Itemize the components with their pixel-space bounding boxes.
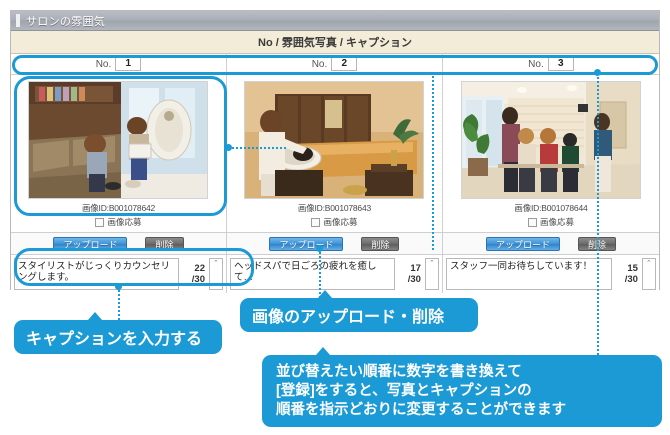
connector-knob-photo: [225, 144, 232, 151]
connector-caption-callout: [118, 286, 120, 320]
caption-row: スタイリストがじっくりカウンセリングします。 22/30 ⌃ ヘッドスパで日ごろ…: [11, 255, 659, 293]
photo-row: 画像ID:B001078642 画像応募: [11, 75, 659, 233]
apply-checkbox-3[interactable]: [528, 218, 537, 227]
caption-counter-1: 22/30: [181, 263, 207, 285]
order-number-input-3[interactable]: 3: [548, 57, 574, 71]
order-number-input-2[interactable]: 2: [331, 57, 357, 71]
connector-knob-caption: [115, 283, 122, 290]
callout-enter-caption: キャプションを入力する: [14, 320, 222, 354]
caption-max-2: /30: [408, 274, 421, 285]
order-number-cell-2: No. 2: [227, 54, 443, 75]
caption-scroll-2[interactable]: ⌃: [425, 258, 439, 290]
caption-count-1: 22: [194, 263, 205, 274]
caption-input-1[interactable]: スタイリストがじっくりカウンセリングします。: [14, 258, 179, 290]
caption-count-3: 15: [627, 263, 638, 274]
caption-scroll-1[interactable]: ⌃: [209, 258, 223, 290]
callout-upload-text: 画像のアップロード・削除: [252, 303, 444, 327]
callout-arrow-upload: [318, 290, 332, 298]
apply-checkbox-label-2: 画像応募: [323, 216, 357, 228]
salon-atmosphere-panel: サロンの雰囲気 No / 雰囲気写真 / キャプション No. 1 No. 2 …: [10, 10, 660, 290]
caption-max-1: /30: [192, 274, 205, 285]
action-button-cell-2: アップロード 削除: [227, 233, 443, 255]
image-id-prefix-1: 画像ID:: [82, 203, 109, 213]
delete-button-1[interactable]: 削除: [145, 237, 183, 251]
connector-knob-upload: [316, 245, 323, 252]
no-label-1: No.: [96, 59, 112, 70]
panel-titlebar: サロンの雰囲気: [11, 11, 659, 31]
photo-cell-3: 画像ID:B001078644 画像応募: [443, 75, 659, 233]
caption-counter-2: 17/30: [397, 263, 423, 285]
caption-max-3: /30: [625, 274, 638, 285]
caption-input-3[interactable]: スタッフ一同お待ちしています！: [446, 258, 612, 290]
upload-button-1[interactable]: アップロード: [53, 237, 127, 251]
apply-checkbox-row-3[interactable]: 画像応募: [528, 216, 574, 228]
callout-arrow-order: [316, 347, 330, 355]
caption-input-2[interactable]: ヘッドスパで日ごろの疲れを癒して…: [230, 258, 395, 290]
caption-counter-3: 15/30: [614, 263, 640, 285]
callout-order-text: 並び替えたい順番に数字を書き換えて [登録]をすると、写真とキャプションの 順番…: [276, 363, 566, 420]
apply-checkbox-label-3: 画像応募: [540, 216, 574, 228]
callout-arrow-caption: [88, 312, 102, 320]
order-number-cell-3: No. 3: [443, 54, 659, 75]
table-column-header: No / 雰囲気写真 / キャプション: [11, 31, 659, 54]
image-id-prefix-3: 画像ID:: [514, 203, 541, 213]
caption-count-2: 17: [410, 263, 421, 274]
action-button-row: アップロード 削除 アップロード 削除 アップロード 削除: [11, 233, 659, 255]
apply-checkbox-row-2[interactable]: 画像応募: [311, 216, 357, 228]
apply-checkbox-2[interactable]: [311, 218, 320, 227]
order-number-input-1[interactable]: 1: [115, 57, 141, 71]
callout-reorder-instructions: 並び替えたい順番に数字を書き換えて [登録]をすると、写真とキャプションの 順番…: [262, 355, 662, 427]
action-button-cell-1: アップロード 削除: [11, 233, 227, 255]
order-number-cell-1: No. 1: [11, 54, 227, 75]
image-id-2: 画像ID:B001078643: [298, 202, 371, 214]
upload-button-2[interactable]: アップロード: [269, 237, 343, 251]
delete-button-2[interactable]: 削除: [361, 237, 399, 251]
callout-caption-text: キャプションを入力する: [26, 325, 202, 349]
no-label-2: No.: [312, 59, 328, 70]
action-button-cell-3: アップロード 削除: [443, 233, 659, 255]
connector-photo-to-cell2: [228, 147, 286, 149]
image-id-prefix-2: 画像ID:: [298, 203, 325, 213]
titlebar-accent-bar: [16, 14, 20, 27]
image-id-3: 画像ID:B001078644: [514, 202, 587, 214]
photo-cell-1: 画像ID:B001078642 画像応募: [11, 75, 227, 233]
connector-order-branch: [432, 72, 434, 250]
apply-checkbox-label-1: 画像応募: [107, 216, 141, 228]
salon-photo-1[interactable]: [28, 81, 208, 199]
connector-knob-order: [594, 69, 601, 76]
caption-scroll-3[interactable]: ⌃: [642, 258, 656, 290]
caption-cell-3: スタッフ一同お待ちしています！ 15/30 ⌃: [443, 255, 659, 293]
callout-upload-delete: 画像のアップロード・削除: [240, 298, 478, 332]
upload-button-3[interactable]: アップロード: [486, 237, 560, 251]
salon-photo-3[interactable]: [461, 81, 641, 199]
photo-cell-2: 画像ID:B001078643 画像応募: [227, 75, 443, 233]
apply-checkbox-row-1[interactable]: 画像応募: [95, 216, 141, 228]
salon-photo-2[interactable]: [244, 81, 424, 199]
apply-checkbox-1[interactable]: [95, 218, 104, 227]
panel-title: サロンの雰囲気: [26, 13, 105, 29]
caption-cell-2: ヘッドスパで日ごろの疲れを癒して… 17/30 ⌃: [227, 255, 443, 293]
order-number-row: No. 1 No. 2 No. 3: [11, 54, 659, 75]
connector-order-callout: [597, 72, 599, 355]
image-id-1: 画像ID:B001078642: [82, 202, 155, 214]
no-label-3: No.: [528, 59, 544, 70]
image-id-value-2: B001078643: [325, 203, 371, 213]
image-id-value-3: B001078644: [541, 203, 587, 213]
image-id-value-1: B001078642: [109, 203, 155, 213]
